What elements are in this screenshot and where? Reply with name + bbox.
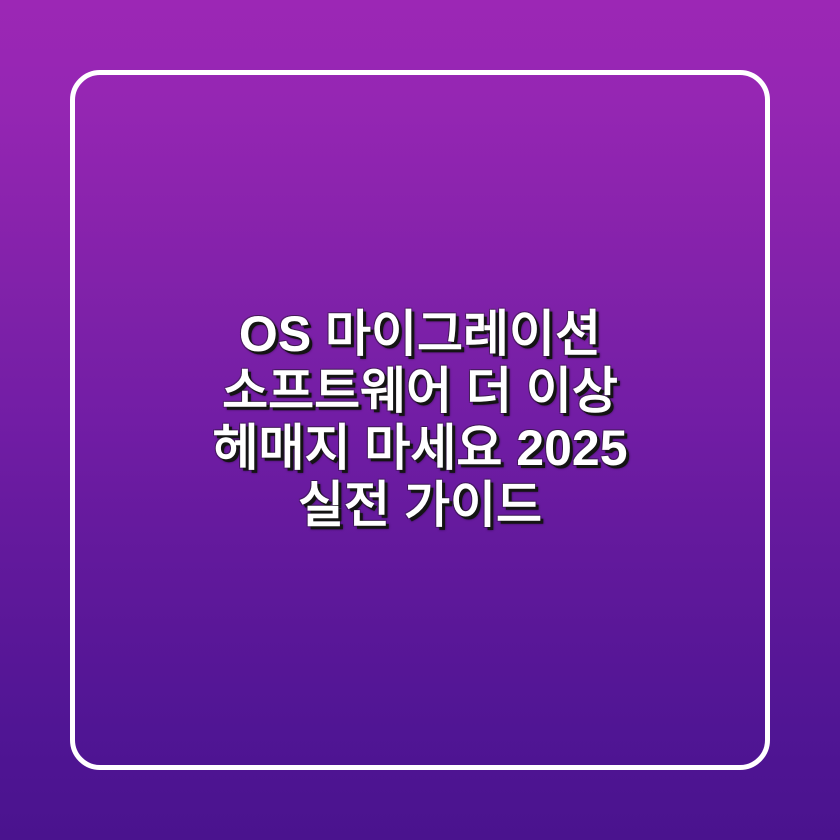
headline-line-2: 소프트웨어 더 이상	[80, 363, 760, 420]
poster-canvas: OS 마이그레이션 소프트웨어 더 이상 헤매지 마세요 2025 실전 가이드	[0, 0, 840, 840]
headline-line-4: 실전 가이드	[80, 477, 760, 534]
headline-line-3: 헤매지 마세요 2025	[80, 420, 760, 477]
headline-block: OS 마이그레이션 소프트웨어 더 이상 헤매지 마세요 2025 실전 가이드	[0, 0, 840, 840]
headline-line-1: OS 마이그레이션	[80, 306, 760, 363]
